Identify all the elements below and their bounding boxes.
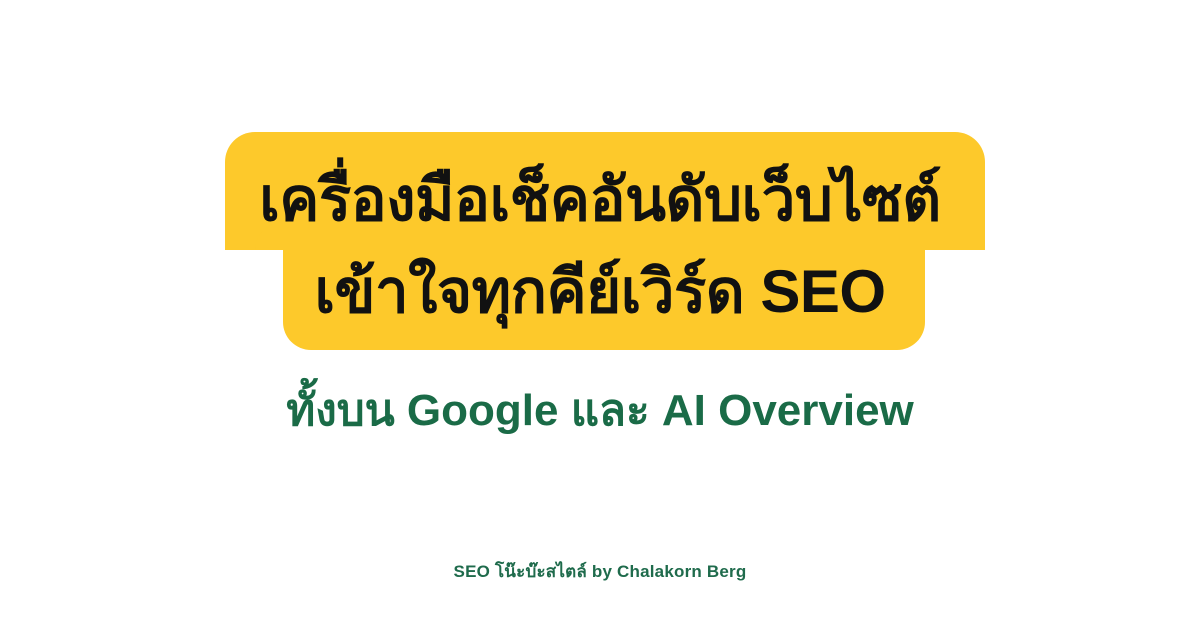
footer-credit: SEO โน๊ะบ๊ะสไตล์ by Chalakorn Berg (0, 562, 1200, 582)
headline-block: เครื่องมือเช็คอันดับเว็บไซต์ เข้าใจทุกคี… (0, 0, 1200, 360)
headline-line-2: เข้าใจทุกคีย์เวิร์ด SEO (0, 262, 1200, 322)
headline-line-1: เครื่องมือเช็คอันดับเว็บไซต์ (0, 170, 1200, 230)
poster-canvas: เครื่องมือเช็คอันดับเว็บไซต์ เข้าใจทุกคี… (0, 0, 1200, 628)
subtitle: ทั้งบน Google และ AI Overview (0, 386, 1200, 437)
headline-text-lines: เครื่องมือเช็คอันดับเว็บไซต์ เข้าใจทุกคี… (0, 0, 1200, 360)
